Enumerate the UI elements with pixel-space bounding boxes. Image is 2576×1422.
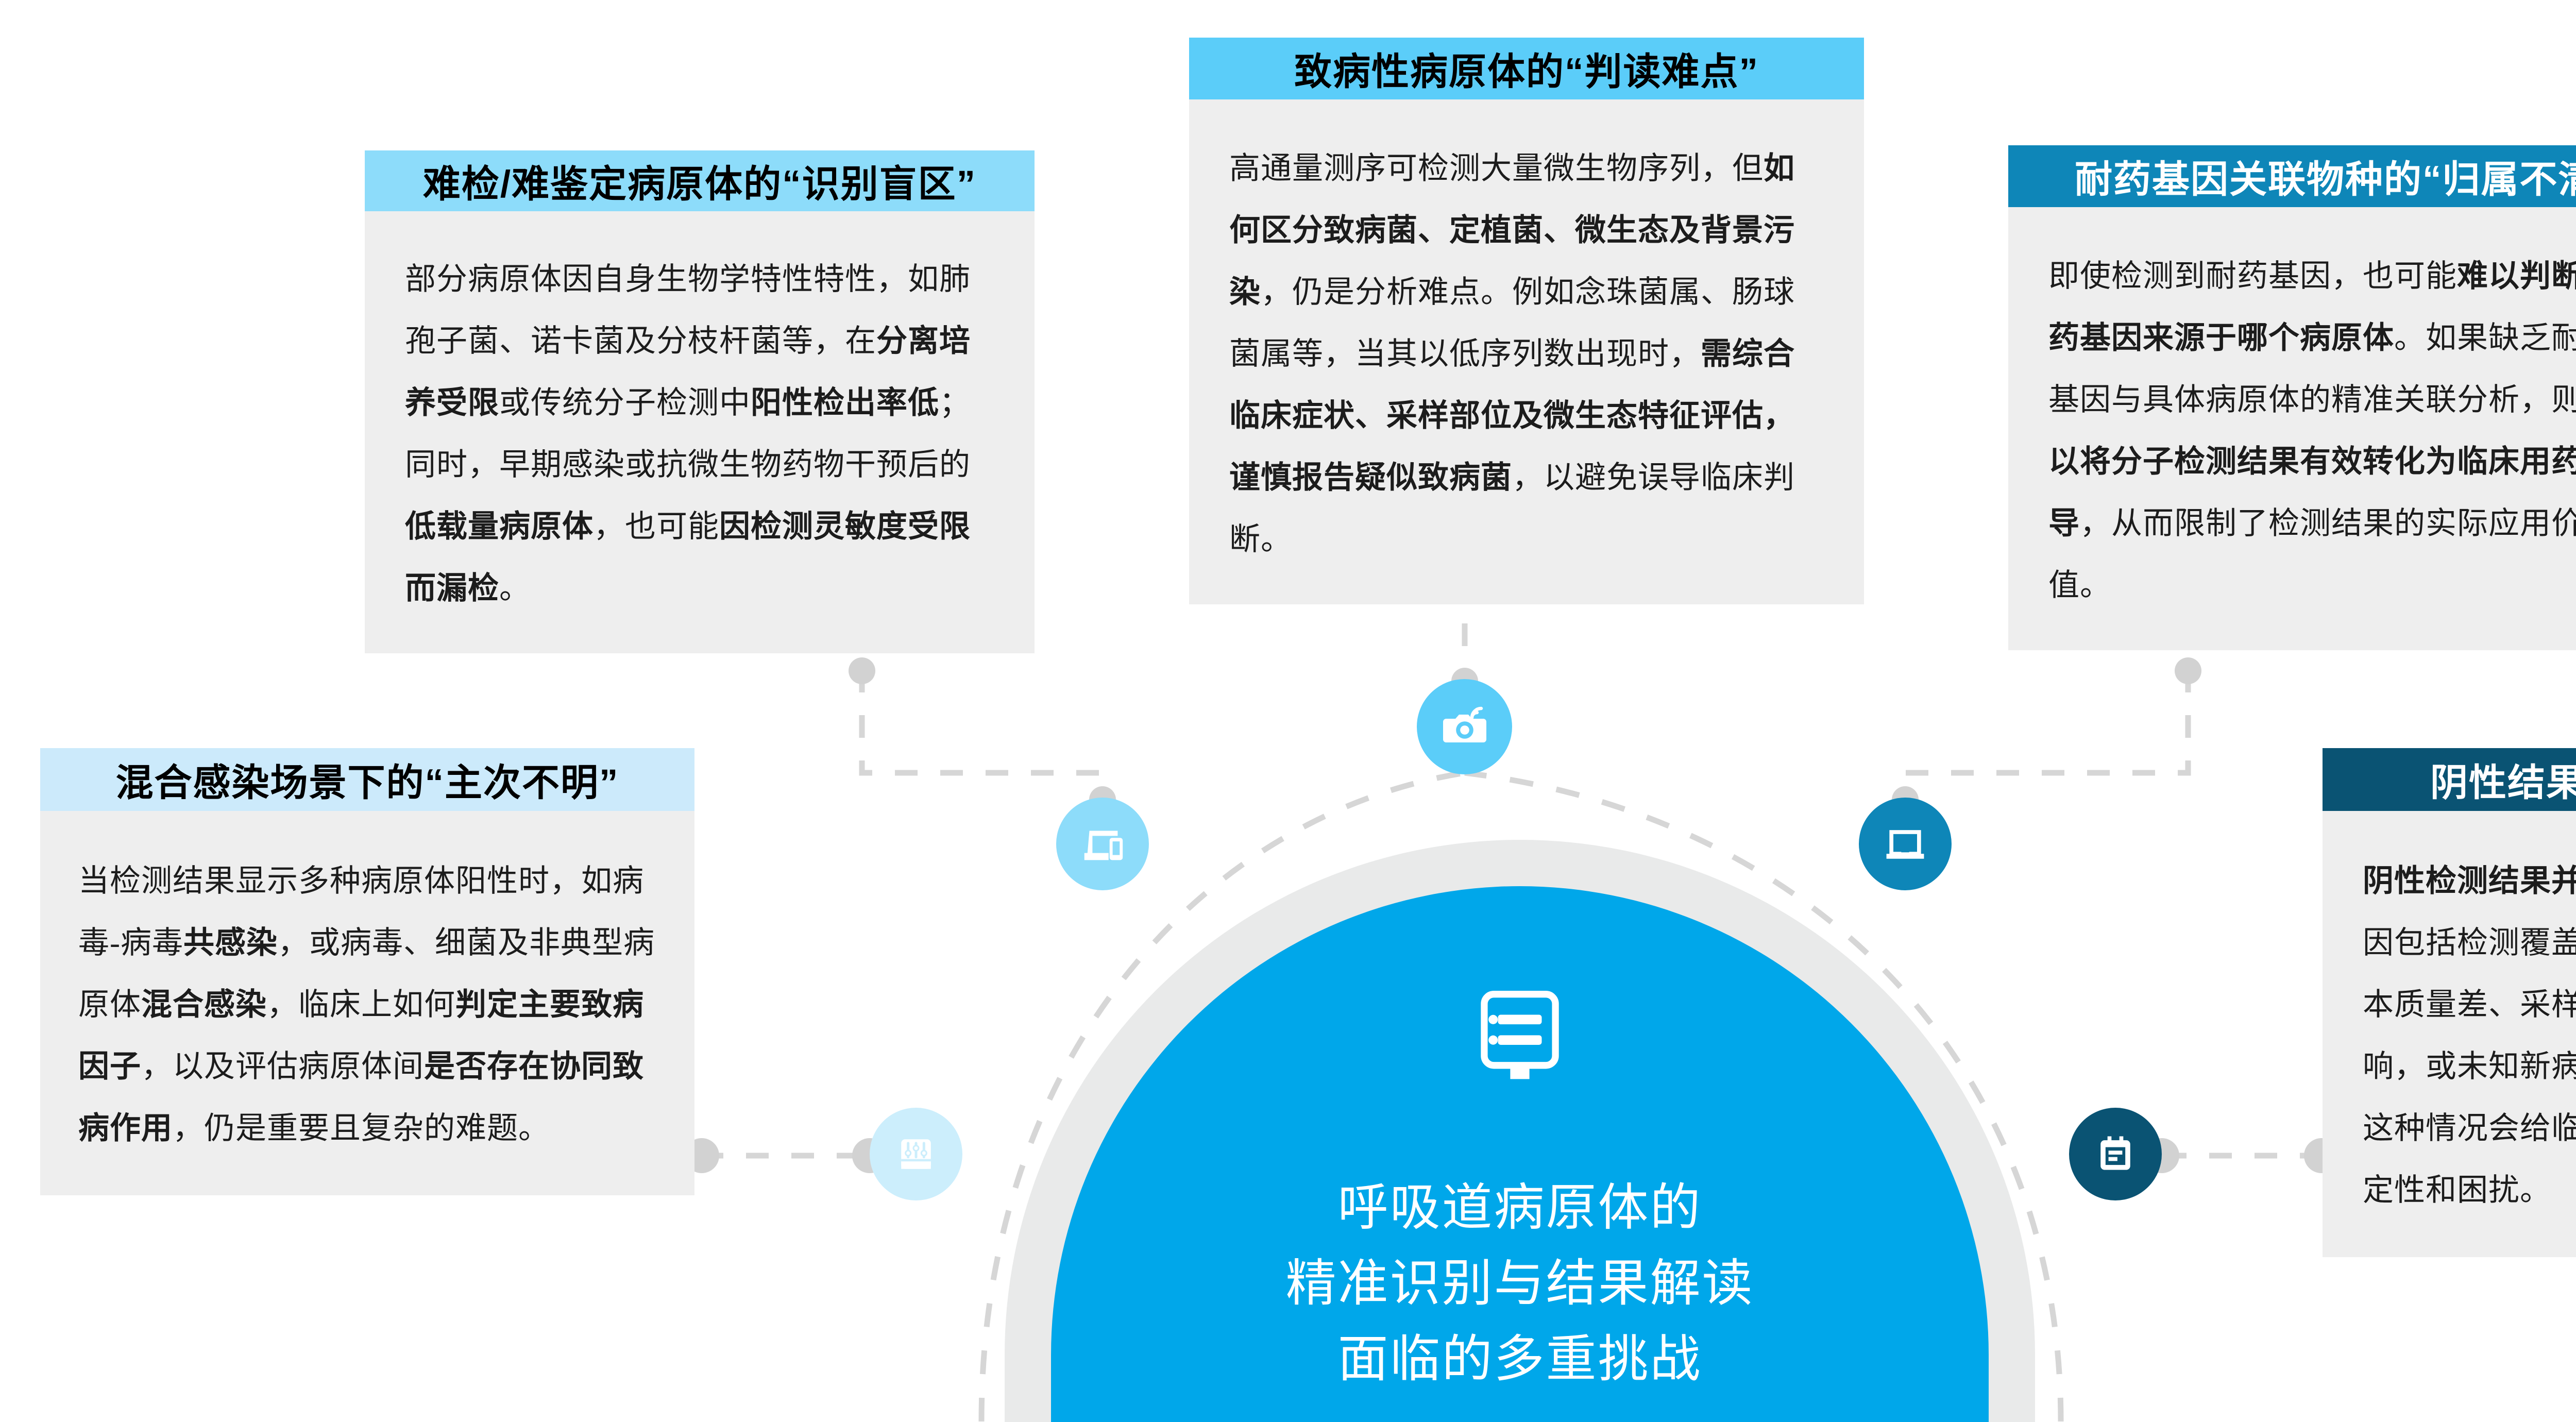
card-top-center-body: 高通量测序可检测大量微生物序列，但如何区分致病菌、定植菌、微生态及背景污染，仍是… <box>1189 99 1864 604</box>
card-top-center: 致病性病原体的“判读难点” 高通量测序可检测大量微生物序列，但如何区分致病菌、定… <box>1189 38 1864 604</box>
card-bottom-right: 阴性结果引发的“诊疗困境” 阴性检测结果并不总能排除感染可能。其原因包括检测覆盖… <box>2323 748 2576 1257</box>
node-lower-right[interactable] <box>2069 1108 2162 1200</box>
card-top-right-body: 即使检测到耐药基因，也可能难以判断耐药基因来源于哪个病原体。如果缺乏耐药基因与具… <box>2008 207 2576 650</box>
server-list-icon <box>1476 989 1564 1092</box>
connector-top-right <box>1905 670 2188 798</box>
node-upper-right[interactable] <box>1859 798 1952 890</box>
devices-laptop-phone-icon <box>1078 820 1127 868</box>
center-title-line-2: 精准识别与结果解读 <box>1285 1245 1754 1321</box>
card-bottom-left: 混合感染场景下的“主次不明” 当检测结果显示多种病原体阳性时，如病毒-病毒共感染… <box>40 748 694 1195</box>
calendar-report-icon <box>2092 1130 2139 1178</box>
card-bottom-right-body: 阴性检测结果并不总能排除感染可能。其原因包括检测覆盖范围不足、灵敏度限制、样本质… <box>2323 811 2576 1257</box>
card-bottom-right-header: 阴性结果引发的“诊疗困境” <box>2323 748 2576 811</box>
node-upper-left[interactable] <box>1056 798 1149 890</box>
laptop-icon <box>1882 820 1929 868</box>
card-top-left-header: 难检/难鉴定病原体的“识别盲区” <box>365 150 1035 211</box>
sliders-equalizer-icon <box>892 1130 940 1178</box>
center-title-line-1: 呼吸道病原体的 <box>1285 1170 1754 1245</box>
center-title: 呼吸道病原体的 精准识别与结果解读 面临的多重挑战 <box>1285 1170 1754 1397</box>
card-top-left: 难检/难鉴定病原体的“识别盲区” 部分病原体因自身生物学特性特性，如肺孢子菌、诺… <box>365 150 1035 653</box>
node-lower-left[interactable] <box>870 1108 962 1200</box>
center-dome: 呼吸道病原体的 精准识别与结果解读 面临的多重挑战 <box>1051 886 1989 1422</box>
wireless-camera-icon <box>1440 702 1489 752</box>
connector-top-left <box>862 670 1103 798</box>
node-top-center[interactable] <box>1417 679 1512 774</box>
infographic-canvas: 呼吸道病原体的 精准识别与结果解读 面临的多重挑战 <box>0 0 2576 1421</box>
card-bottom-left-header: 混合感染场景下的“主次不明” <box>40 748 694 811</box>
center-title-line-3: 面临的多重挑战 <box>1285 1321 1754 1397</box>
card-top-center-header: 致病性病原体的“判读难点” <box>1189 38 1864 99</box>
card-bottom-left-body: 当检测结果显示多种病原体阳性时，如病毒-病毒共感染，或病毒、细菌及非典型病原体混… <box>40 811 694 1195</box>
card-top-left-body: 部分病原体因自身生物学特性特性，如肺孢子菌、诺卡菌及分枝杆菌等，在分离培养受限或… <box>365 211 1035 653</box>
card-top-right-header: 耐药基因关联物种的“归属不清” <box>2008 145 2576 207</box>
card-top-right: 耐药基因关联物种的“归属不清” 即使检测到耐药基因，也可能难以判断耐药基因来源于… <box>2008 145 2576 650</box>
